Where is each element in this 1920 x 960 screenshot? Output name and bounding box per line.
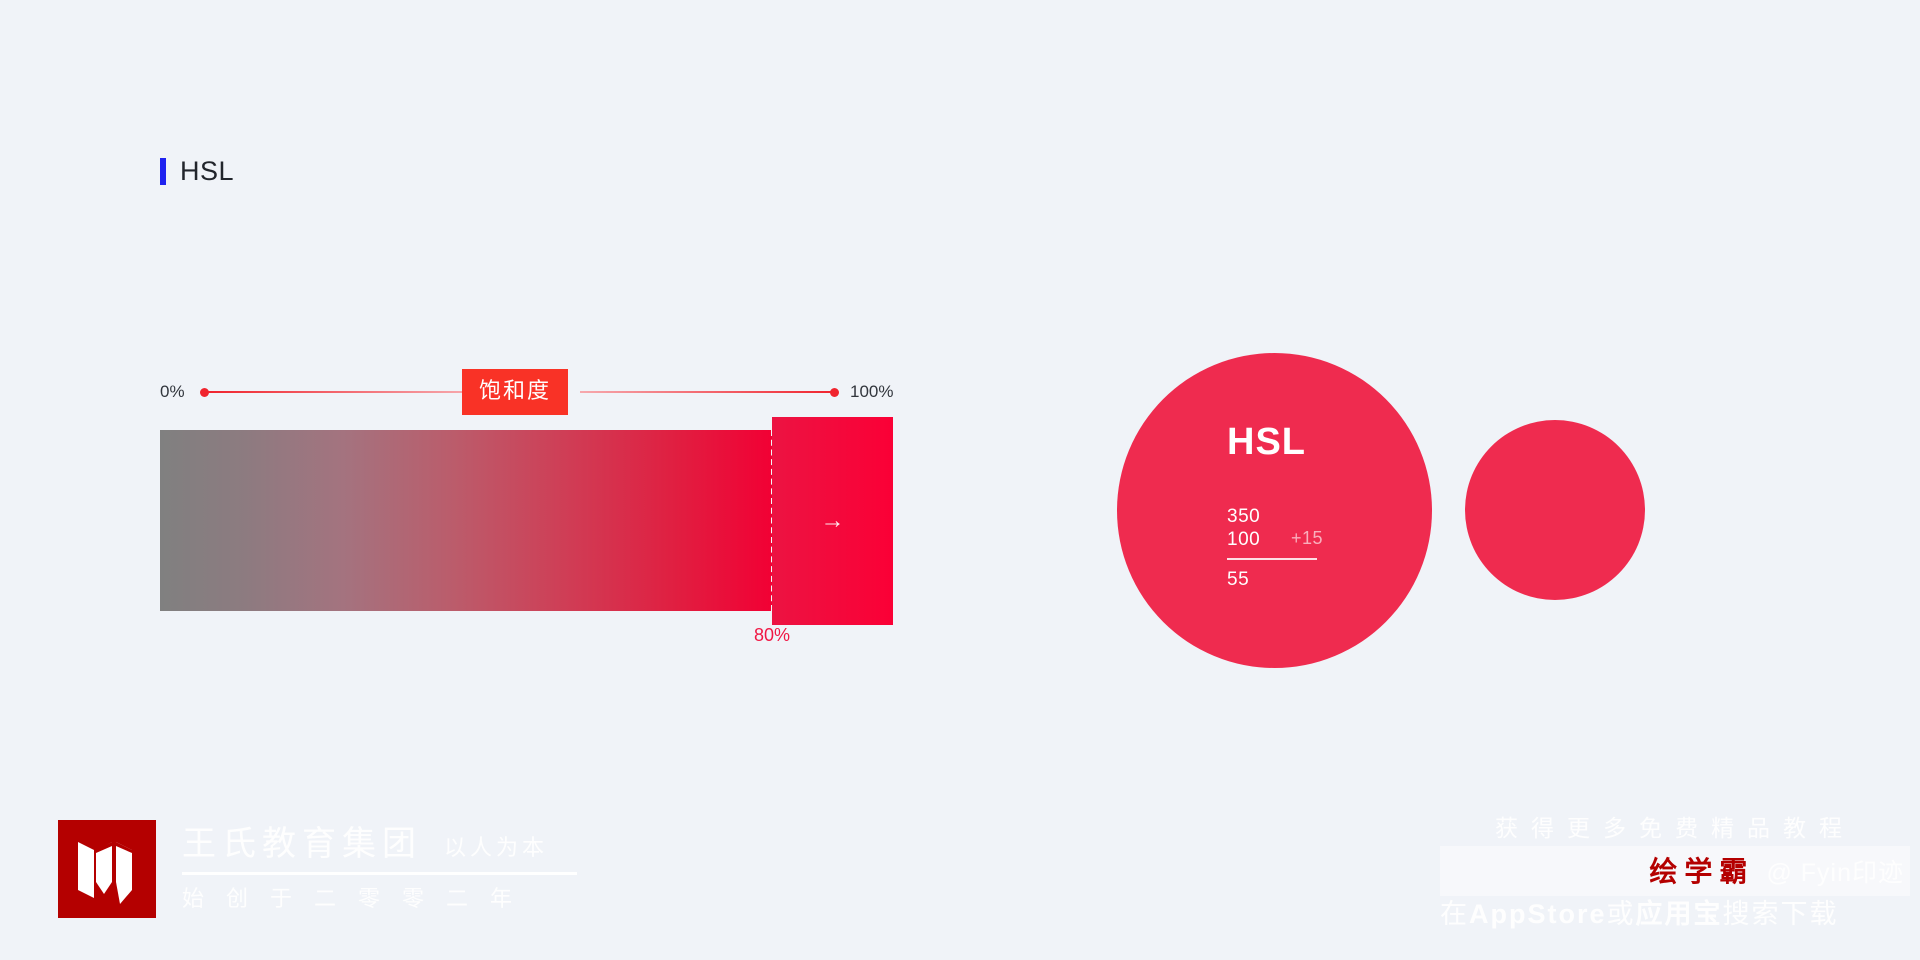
gradient-value-label: 80% [722,625,822,646]
slide-canvas: HSL 0% 饱和度 100% → 80% HSL 350 100 +15 55 [0,0,1920,960]
watermark-divider [182,872,577,875]
wangshi-logo-icon [58,820,156,918]
page-title-text: HSL [180,158,234,185]
page-title: HSL [160,158,234,185]
hsl-hue-value: 350 [1227,505,1347,528]
saturation-scale: 0% 饱和度 100% [160,375,910,409]
watermark-left-text: 王氏教育集团 以人为本 始创于二零零二年 [182,825,577,912]
download-store-2: 应用宝 [1636,899,1723,929]
hsl-saturation-value: 100 [1227,528,1347,551]
hsl-readout-block: HSL 350 100 +15 55 [1227,423,1417,591]
download-suffix: 搜索下载 [1723,899,1839,929]
watermark-app-row: 绘学霸 @ Fyin印迹 [1440,846,1910,896]
download-mid: 或 [1607,899,1636,929]
watermark-download-line: 在AppStore或应用宝搜索下载 [1440,898,1910,932]
watermark-left-row1: 王氏教育集团 以人为本 [182,825,577,864]
color-circle-small [1465,420,1645,600]
scale-max-label: 100% [850,382,893,402]
scale-line-right [580,391,835,393]
saturation-gradient-band: → 80% [160,430,910,615]
arrow-right-icon: → [821,509,845,533]
gradient-end-swatch: → [772,417,893,625]
watermark-since: 始创于二零零二年 [182,881,577,913]
accent-bar-icon [160,158,166,185]
hsl-divider [1227,558,1317,560]
watermark-app-name: 绘学霸 [1649,850,1754,890]
scale-line-left [207,391,469,393]
scale-max-dot-icon [830,388,839,397]
download-prefix: 在 [1440,899,1469,929]
watermark-left: 王氏教育集团 以人为本 始创于二零零二年 [58,820,577,918]
hsl-values: 350 100 +15 55 [1227,505,1347,591]
scale-min-label: 0% [160,382,185,402]
watermark-brand: 王氏教育集团 [182,825,422,864]
watermark-handle: @ Fyin印迹 [1766,853,1904,889]
hsl-delta-value: +15 [1291,528,1323,549]
color-circle-large: HSL 350 100 +15 55 [1117,353,1432,668]
hsl-lightness-value: 55 [1227,568,1347,591]
watermark-promo-line: 获得更多免费精品教程 [1440,812,1910,844]
circle-title: HSL [1227,423,1417,461]
gradient-strip [160,430,772,611]
scale-badge-label: 饱和度 [462,369,568,415]
download-store-1: AppStore [1469,899,1607,929]
watermark-slogan: 以人为本 [444,830,548,862]
watermark-right: 获得更多免费精品教程 绘学霸 @ Fyin印迹 在AppStore或应用宝搜索下… [1440,812,1910,932]
